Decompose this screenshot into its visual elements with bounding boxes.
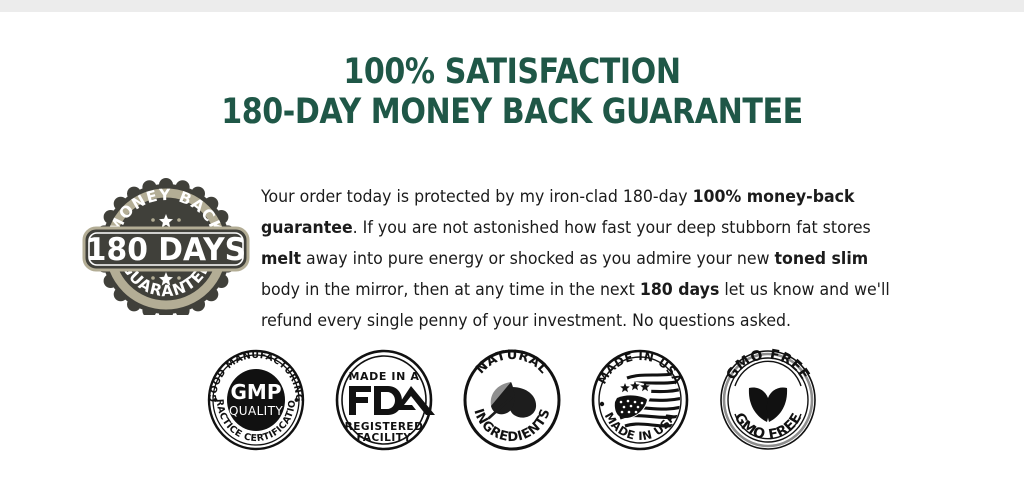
gmp-center-line-1: GMP <box>231 380 282 404</box>
top-gray-band <box>0 0 1024 12</box>
paragraph-emphasis: melt <box>261 249 301 268</box>
double-leaf-icon <box>749 387 787 422</box>
made-in-usa-seal: MADE IN USA MADE IN USA <box>587 342 693 454</box>
heading-line-2: 180-DAY MONEY BACK GUARANTEE <box>72 92 953 132</box>
paragraph-text: away into pure energy or shocked as you … <box>301 249 774 268</box>
fda-wordmark <box>349 386 435 415</box>
paragraph-text: Your order today is protected by my iron… <box>261 187 693 206</box>
heading-line-1: 100% SATISFACTION <box>72 52 953 92</box>
paragraph-emphasis: toned slim <box>775 249 869 268</box>
gmp-center-line-2: QUALITY <box>229 404 283 418</box>
paragraph-emphasis: 180 days <box>640 280 719 299</box>
leaf-icon <box>489 382 536 418</box>
guarantee-paragraph: Your order today is protected by my iron… <box>261 181 903 336</box>
fda-line-bottom-2: FACILITY <box>356 432 411 444</box>
guarantee-badge: MONEY BACK GUARANTEE 180 DAYS <box>81 170 253 315</box>
natural-ingredients-seal: NATURAL INGREDIENTS <box>459 342 565 454</box>
gmo-free-seal: GMO FREE GMO FREE <box>715 342 821 454</box>
usa-arc-top-text: MADE IN USA <box>595 349 685 386</box>
guarantee-section: 100% SATISFACTION 180-DAY MONEY BACK GUA… <box>0 12 1024 477</box>
paragraph-text: . If you are not astonished how fast you… <box>353 218 871 237</box>
badge-center-band: 180 DAYS <box>84 228 248 270</box>
fda-line-top: MADE IN A <box>349 370 420 383</box>
page-title: 100% SATISFACTION 180-DAY MONEY BACK GUA… <box>72 52 953 132</box>
fda-registered-facility-seal: MADE IN A REGISTERED FACILITY <box>331 342 437 454</box>
paragraph-text: body in the mirror, then at any time in … <box>261 280 640 299</box>
gmo-arc-top-text: GMO FREE <box>723 347 812 383</box>
natural-arc-top-text: NATURAL <box>473 348 551 377</box>
gmp-quality-seal: GOOD MANUFACTURING PRACTICE CERTIFICATIO… <box>203 342 309 454</box>
badge-center-text: 180 DAYS <box>86 232 246 268</box>
trust-seal-row: GOOD MANUFACTURING PRACTICE CERTIFICATIO… <box>0 339 1024 457</box>
